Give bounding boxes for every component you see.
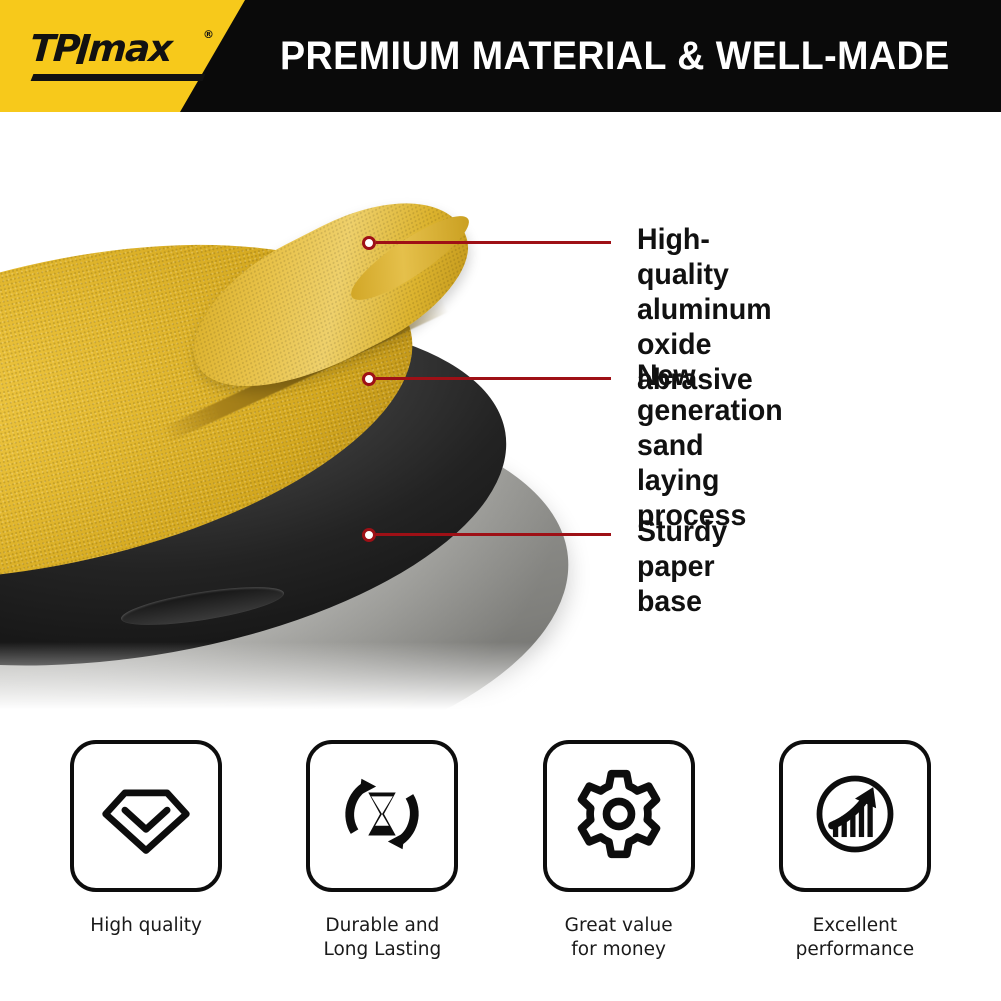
feature-label: Great value for money bbox=[565, 914, 673, 963]
feature-item-durable: Durable and Long Lasting bbox=[275, 740, 490, 963]
diamond-gem-icon bbox=[98, 766, 194, 867]
feature-list: High quality Durable and Long Lasting bbox=[0, 740, 1001, 980]
feature-icon-box bbox=[306, 740, 458, 892]
feature-item-high-quality: High quality bbox=[39, 740, 254, 938]
brand-logo-tp: TP bbox=[28, 27, 79, 70]
feature-label: Durable and Long Lasting bbox=[323, 914, 441, 963]
hourglass-recycle-icon bbox=[333, 765, 431, 868]
brand-logo-wordmark: TPmax bbox=[29, 30, 173, 67]
brand-logo-underbar bbox=[31, 74, 206, 81]
brand-logo-max: max bbox=[87, 27, 173, 70]
feature-item-great-value: Great value for money bbox=[511, 740, 726, 963]
photo-bottom-fade bbox=[0, 642, 660, 732]
callout-leader-line bbox=[376, 377, 611, 380]
feature-label: High quality bbox=[90, 914, 202, 938]
page-title: PREMIUM MATERIAL & WELL-MADE bbox=[280, 0, 950, 112]
feature-icon-box bbox=[779, 740, 931, 892]
feature-icon-box bbox=[70, 740, 222, 892]
callout-marker-dot-icon bbox=[362, 236, 376, 250]
callout-label: Sturdy paper base bbox=[637, 514, 727, 619]
callout-label: New generation sand laying process bbox=[637, 358, 783, 533]
feature-label: Excellent performance bbox=[796, 914, 914, 963]
header-banner: TPmax ® PREMIUM MATERIAL & WELL-MADE bbox=[0, 0, 1001, 112]
registered-trademark-icon: ® bbox=[203, 28, 214, 41]
gear-icon bbox=[571, 766, 667, 867]
feature-item-excellent-performance: Excellent performance bbox=[747, 740, 962, 963]
callout-leader-line bbox=[376, 533, 611, 536]
growth-chart-icon bbox=[807, 766, 903, 867]
callout-marker-dot-icon bbox=[362, 372, 376, 386]
feature-icon-box bbox=[543, 740, 695, 892]
callout-marker-dot-icon bbox=[362, 528, 376, 542]
callout-leader-line bbox=[376, 241, 611, 244]
brand-logo: TPmax ® bbox=[30, 30, 220, 86]
product-photo bbox=[0, 112, 660, 732]
